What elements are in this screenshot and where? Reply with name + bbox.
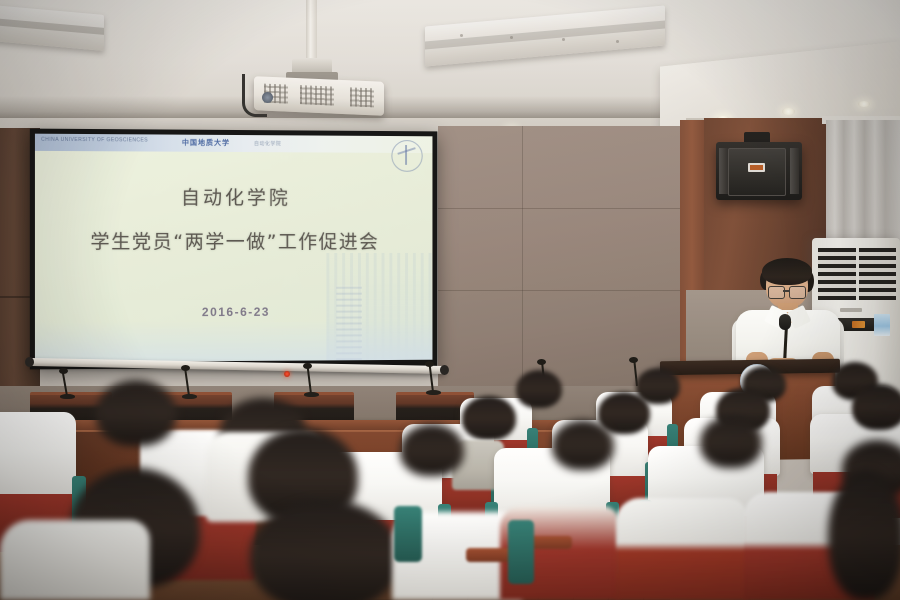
slide-department-name: 自动化学院: [254, 140, 281, 147]
seat-armrest: [528, 536, 572, 549]
projector-vent-grill: [300, 85, 334, 105]
air-conditioner-brand-mark: [840, 308, 862, 312]
audience-head: [852, 384, 900, 430]
seat-armrest: [466, 548, 512, 562]
audience-head: [516, 370, 562, 408]
eyeglasses-icon: [768, 286, 785, 299]
speaker-side-panel: [790, 148, 799, 194]
air-conditioner-energy-label: [874, 314, 890, 336]
audience-member-shirt: [0, 520, 150, 600]
presenter-hair: [762, 258, 812, 285]
projector-lens: [262, 92, 273, 103]
downlight-icon: [858, 101, 870, 107]
audience-head: [250, 500, 400, 600]
wall-panel-center: [438, 126, 686, 388]
slide-title-line1: 自动化学院: [35, 182, 433, 210]
microphone-indicator-light: [284, 371, 290, 377]
seat-frame: [508, 520, 534, 584]
seat-frame: [394, 506, 422, 562]
projector-vent-grill: [350, 87, 374, 107]
slide-header-ribbon-text: CHINA UNIVERSITY OF GEOSCIENCES: [41, 137, 148, 144]
slide-bottom-gradient: [35, 320, 433, 362]
audience-head: [828, 470, 900, 600]
eyeglasses-bridge: [783, 290, 789, 292]
ceiling-projector: [254, 76, 384, 116]
jbl-logo-icon: [748, 163, 765, 172]
ceiling-vent-screws: [450, 34, 640, 38]
slide-institution-name: 中国地质大学: [182, 138, 230, 148]
projection-screen-surface: CHINA UNIVERSITY OF GEOSCIENCES 中国地质大学 自…: [35, 134, 433, 363]
lecture-hall-photo: CHINA UNIVERSITY OF GEOSCIENCES 中国地质大学 自…: [0, 0, 900, 600]
air-conditioner-louver-divider: [856, 248, 859, 300]
seat: [616, 498, 748, 600]
audience-head: [552, 420, 614, 470]
audience-head: [96, 380, 176, 446]
speaker-grille: [728, 148, 786, 196]
slide-title-line2: 学生党员“两学一做”工作促进会: [35, 227, 433, 254]
slide-date: 2016-6-23: [35, 304, 433, 319]
air-conditioner-display: [852, 321, 865, 328]
eyeglasses-icon: [789, 286, 806, 299]
audience-head: [462, 396, 516, 440]
downlight-icon: [782, 108, 795, 115]
projection-screen: CHINA UNIVERSITY OF GEOSCIENCES 中国地质大学 自…: [30, 129, 437, 370]
speaker-side-panel: [719, 148, 728, 194]
audience-head: [400, 424, 464, 476]
audience-head: [700, 416, 762, 468]
projector-mount-pole: [306, 0, 317, 62]
handheld-microphone: [779, 314, 791, 330]
slide-emblem-icon: [391, 140, 422, 172]
